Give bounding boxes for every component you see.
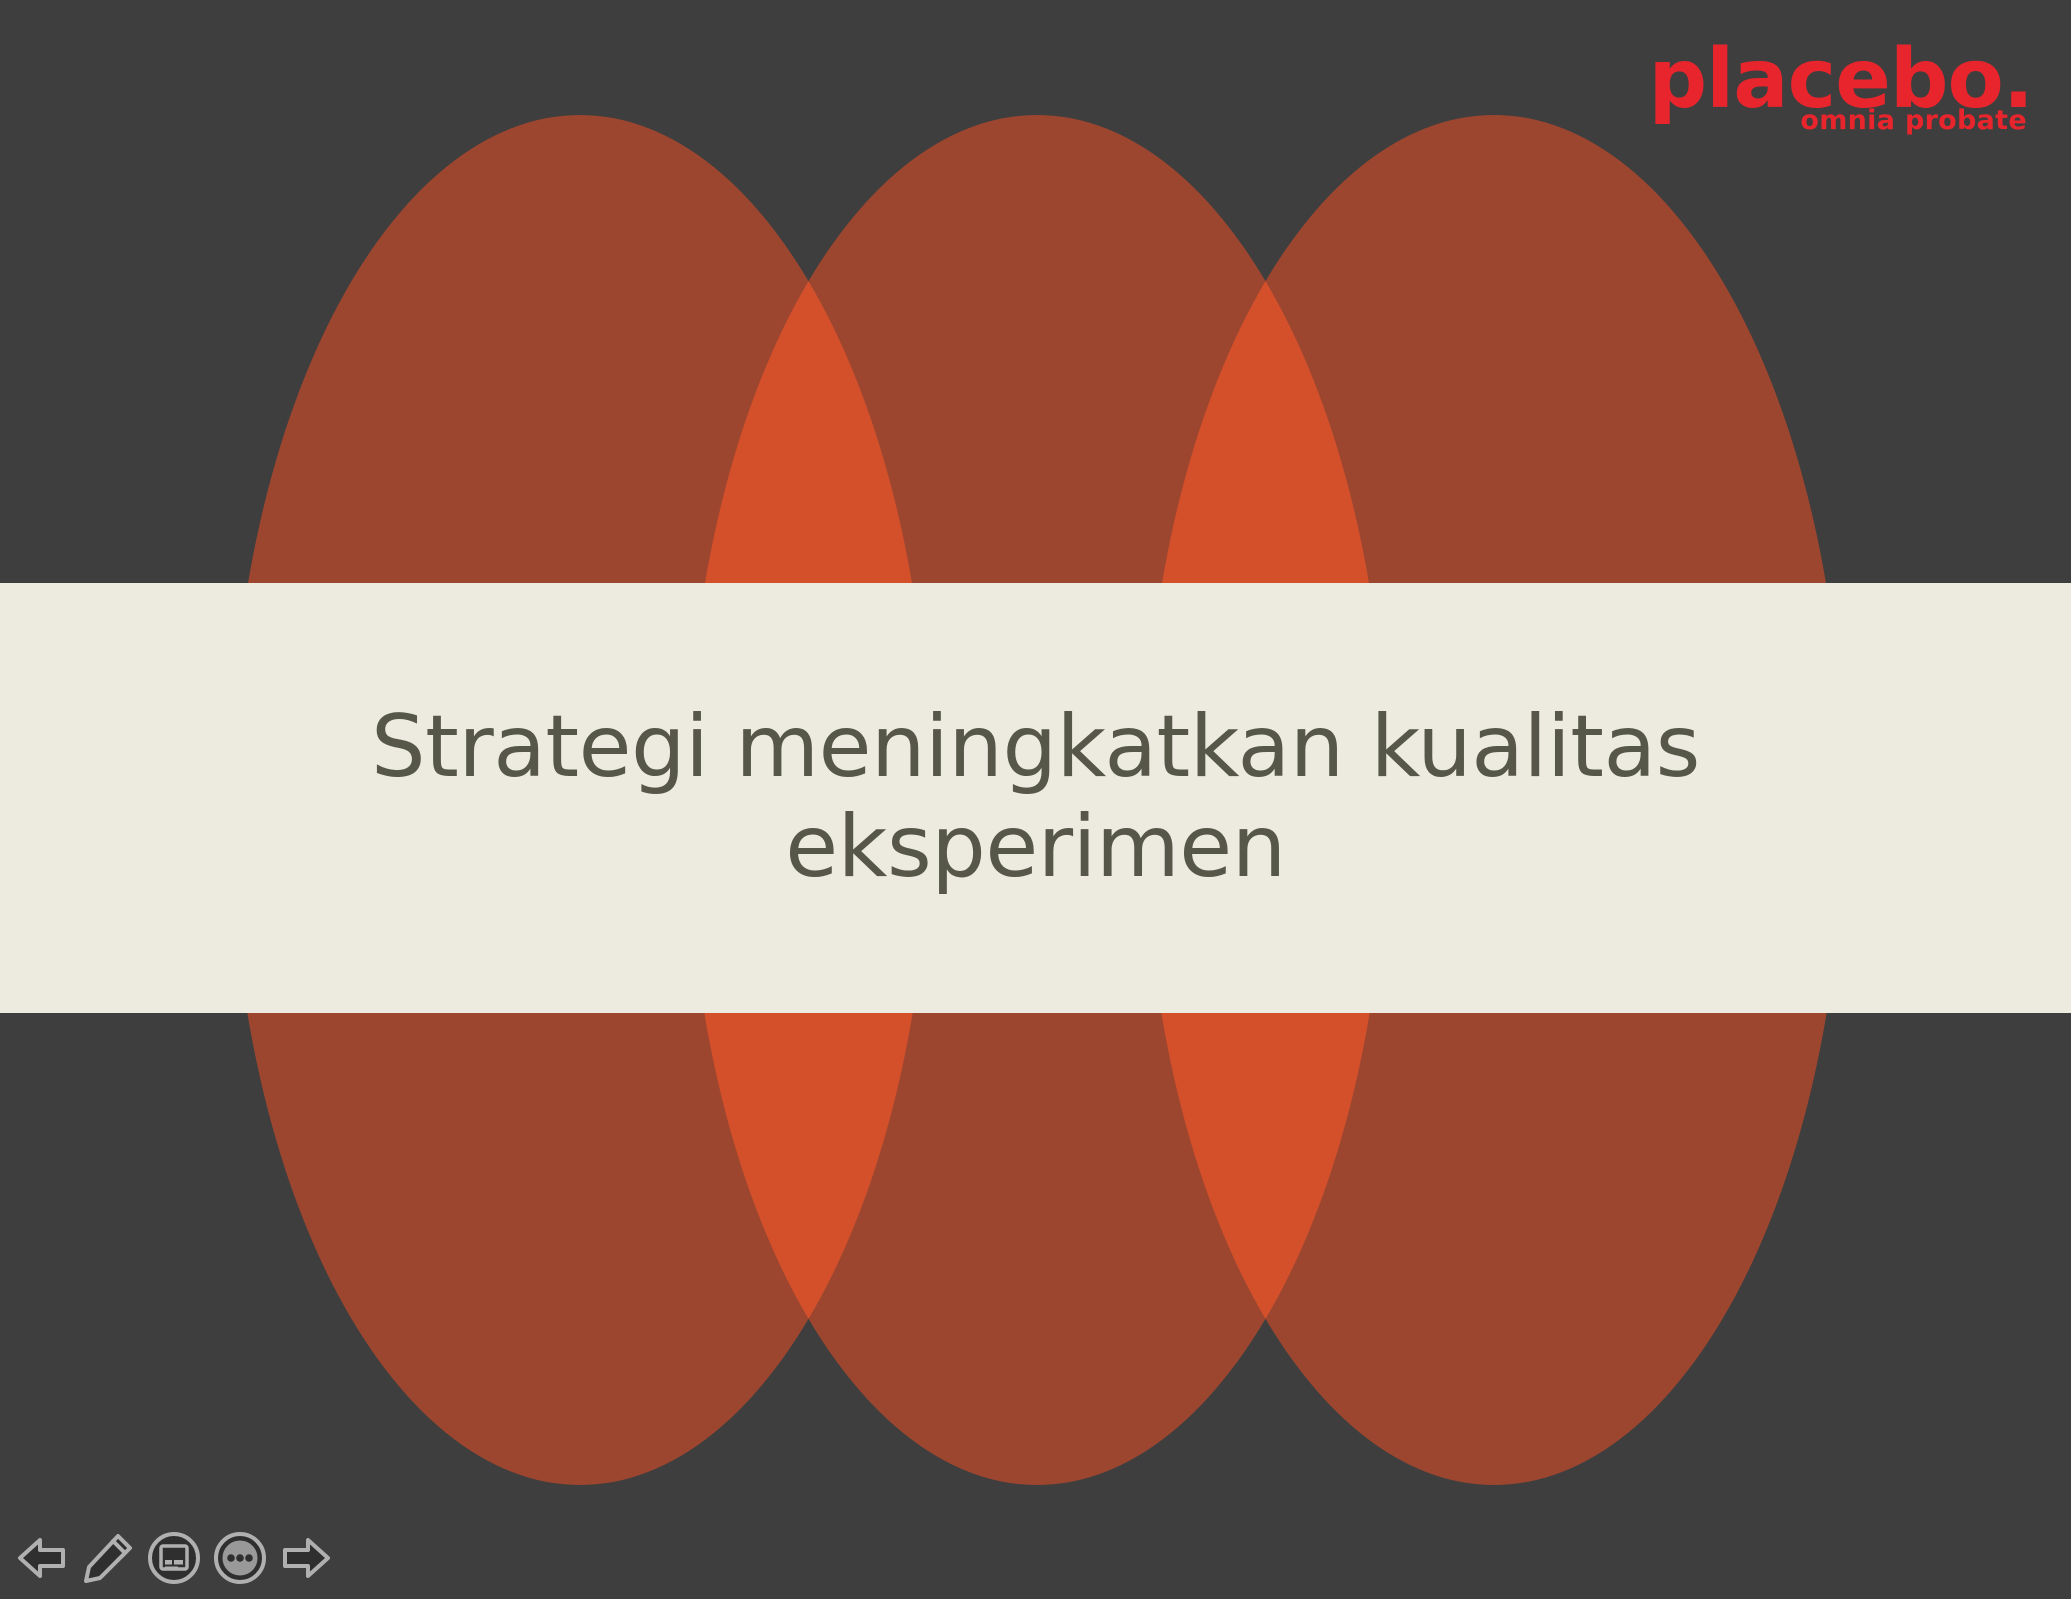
page-title: Strategi meningkatkan kualitas eksperime…: [326, 698, 1746, 898]
title-banner: Strategi meningkatkan kualitas eksperime…: [0, 583, 2071, 1013]
slide-notes-icon: [146, 1530, 202, 1586]
arrow-right-icon: [278, 1530, 334, 1586]
arrow-left-icon: [14, 1530, 70, 1586]
next-slide-button[interactable]: [274, 1526, 338, 1590]
slide-notes-button[interactable]: [142, 1526, 206, 1590]
annotate-button[interactable]: [76, 1526, 140, 1590]
brand-logo: placebo. omnia probate: [1648, 42, 2033, 134]
previous-slide-button[interactable]: [10, 1526, 74, 1590]
pencil-icon: [80, 1530, 136, 1586]
presentation-slide: Strategi meningkatkan kualitas eksperime…: [0, 0, 2071, 1599]
more-options-icon: [212, 1530, 268, 1586]
more-options-button[interactable]: [208, 1526, 272, 1590]
slide-navigation-toolbar: [10, 1525, 338, 1591]
